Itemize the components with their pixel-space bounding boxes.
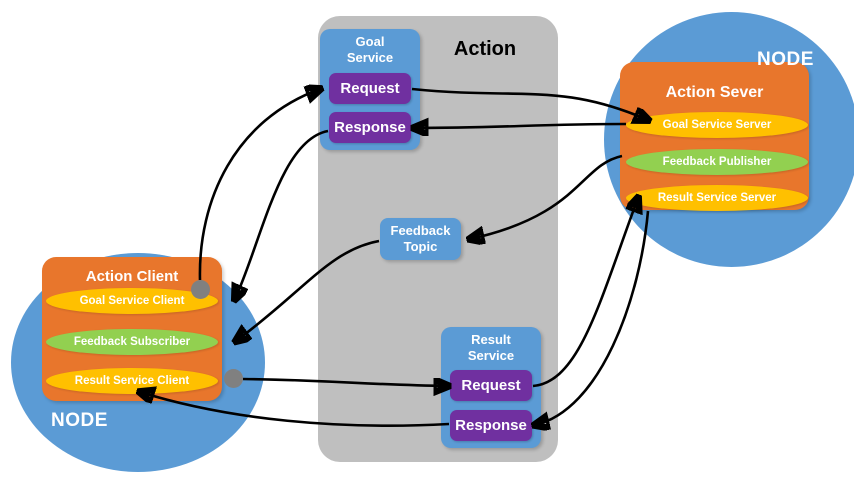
- goal-service-request-box[interactable]: Request: [329, 73, 411, 104]
- diagram-canvas: Action Goal Service Request Response Fee…: [0, 0, 854, 480]
- arrow-goal-client-to-goal-request: [200, 89, 320, 280]
- pill-goal-service-server[interactable]: Goal Service Server: [626, 112, 808, 138]
- goal-service-title-line1: Goal: [320, 34, 420, 49]
- result-service-title-line2: Service: [441, 348, 541, 363]
- result-service-response-box[interactable]: Response: [450, 410, 532, 441]
- feedback-topic-title-line2: Topic: [404, 239, 438, 255]
- result-client-connector-dot: [224, 369, 243, 388]
- result-service-request-box[interactable]: Request: [450, 370, 532, 401]
- goal-client-connector-dot: [191, 280, 210, 299]
- action-panel-title: Action: [430, 38, 540, 61]
- feedback-topic-title-line1: Feedback: [391, 223, 451, 239]
- result-service-title-line1: Result: [441, 332, 541, 347]
- pill-result-service-server[interactable]: Result Service Server: [626, 185, 808, 211]
- feedback-topic-box[interactable]: Feedback Topic: [380, 218, 461, 260]
- server-node-label: NODE: [757, 49, 814, 71]
- pill-result-service-client[interactable]: Result Service Client: [46, 368, 218, 394]
- action-server-title: Action Sever: [620, 84, 809, 102]
- goal-service-response-box[interactable]: Response: [329, 112, 411, 143]
- goal-service-title-line2: Service: [320, 50, 420, 65]
- pill-feedback-subscriber[interactable]: Feedback Subscriber: [46, 329, 218, 355]
- pill-feedback-publisher[interactable]: Feedback Publisher: [626, 149, 808, 175]
- arrow-goal-response-to-goal-client: [235, 131, 328, 299]
- client-node-label: NODE: [51, 410, 108, 432]
